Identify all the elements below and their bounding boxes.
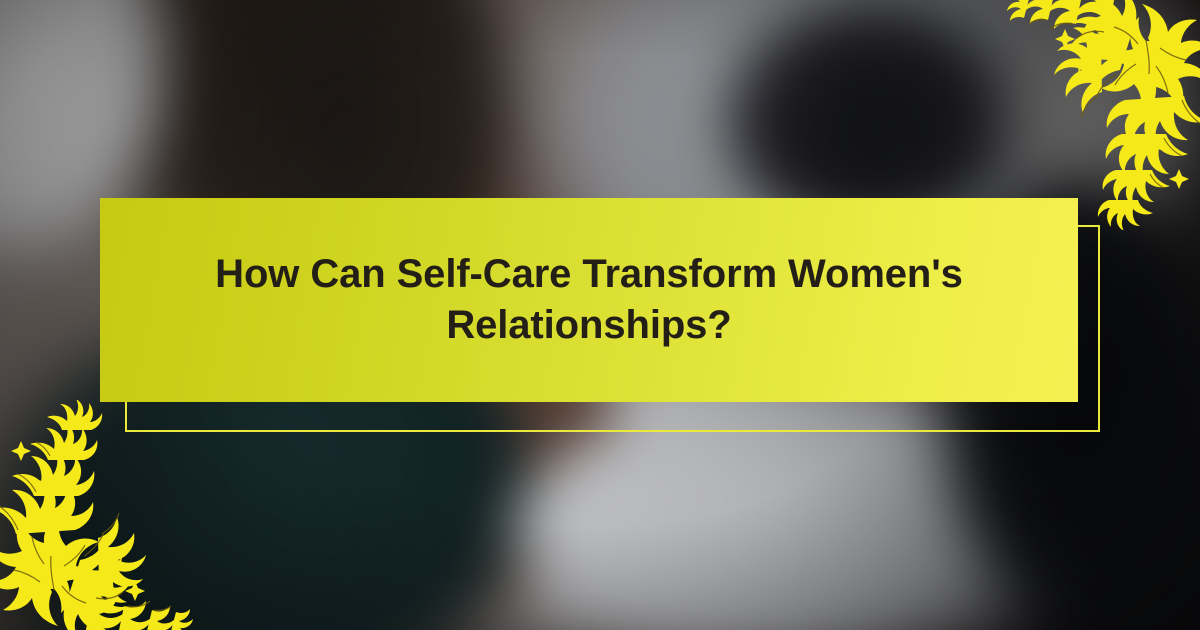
hero-card: How Can Self-Care Transform Women's Rela… — [0, 0, 1200, 630]
title-panel: How Can Self-Care Transform Women's Rela… — [100, 198, 1078, 402]
page-title: How Can Self-Care Transform Women's Rela… — [189, 249, 989, 351]
